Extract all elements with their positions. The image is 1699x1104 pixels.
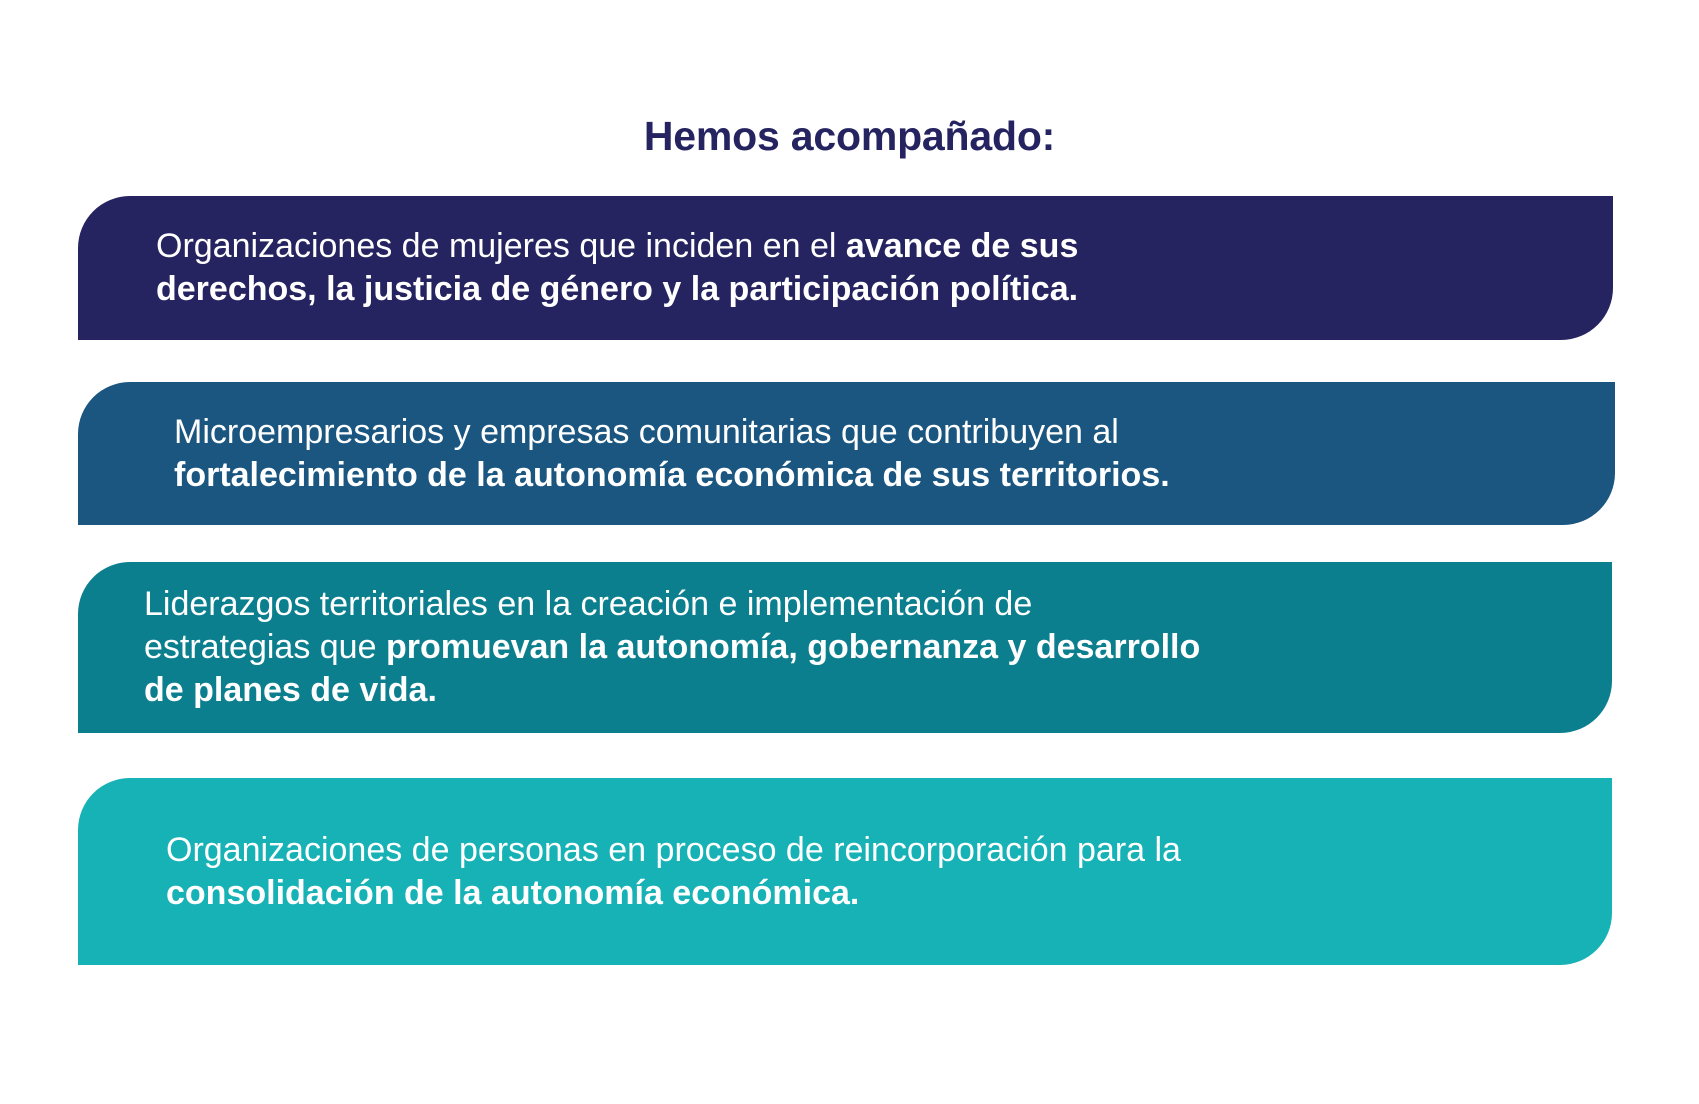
infographic-canvas: Hemos acompañado: Organizaciones de muje… (0, 0, 1699, 1104)
card-1-line-1-bold: avance de sus (846, 227, 1078, 265)
card-3-line-1: Liderazgos territoriales en la creación … (144, 583, 1570, 626)
card-3-text: Liderazgos territoriales en la creación … (144, 583, 1570, 711)
card-microempresarios: Microempresarios y empresas comunitarias… (78, 382, 1615, 525)
card-organizaciones-de-mujeres: Organizaciones de mujeres que inciden en… (78, 196, 1613, 340)
card-3-line-1-regular: Liderazgos territoriales en la creación … (144, 585, 1032, 623)
page-title: Hemos acompañado: (0, 113, 1699, 160)
card-3-line-3: de planes de vida. (144, 669, 1570, 712)
card-1-line-2-bold: derechos, la justicia de género y la par… (156, 270, 1078, 308)
card-1-line-1: Organizaciones de mujeres que inciden en… (156, 225, 1571, 268)
card-3-line-2: estrategias que promuevan la autonomía, … (144, 626, 1570, 669)
card-2-line-2: fortalecimiento de la autonomía económic… (174, 454, 1571, 497)
card-3-line-2-bold: promuevan la autonomía, gobernanza y des… (386, 628, 1200, 666)
card-3-line-2-regular: estrategias que (144, 628, 386, 666)
card-4-text: Organizaciones de personas en proceso de… (166, 829, 1568, 915)
card-1-line-2: derechos, la justicia de género y la par… (156, 268, 1571, 311)
card-2-text: Microempresarios y empresas comunitarias… (174, 411, 1571, 497)
card-1-line-1-regular: Organizaciones de mujeres que inciden en… (156, 227, 846, 265)
card-4-line-2: consolidación de la autonomía económica. (166, 872, 1568, 915)
card-4-line-1-regular: Organizaciones de personas en proceso de… (166, 831, 1181, 869)
card-3-line-3-bold: de planes de vida. (144, 671, 437, 709)
card-2-line-1-regular: Microempresarios y empresas comunitarias… (174, 413, 1119, 451)
card-4-line-2-bold: consolidación de la autonomía económica. (166, 874, 859, 912)
card-liderazgos-territoriales: Liderazgos territoriales en la creación … (78, 562, 1612, 733)
card-organizaciones-reincorporacion: Organizaciones de personas en proceso de… (78, 778, 1612, 965)
card-2-line-2-bold: fortalecimiento de la autonomía económic… (174, 456, 1170, 494)
card-2-line-1: Microempresarios y empresas comunitarias… (174, 411, 1571, 454)
card-1-text: Organizaciones de mujeres que inciden en… (156, 225, 1571, 311)
card-4-line-1: Organizaciones de personas en proceso de… (166, 829, 1568, 872)
